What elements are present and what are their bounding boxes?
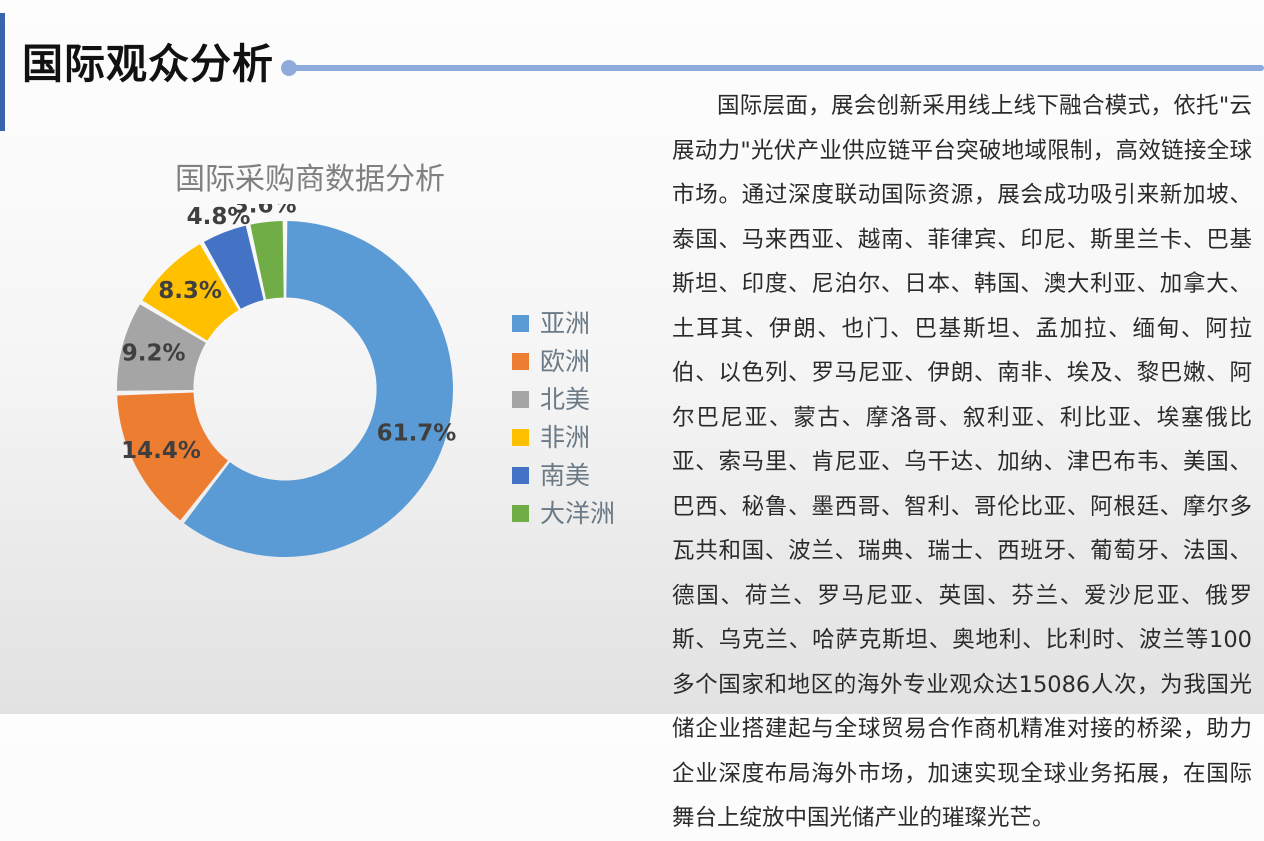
description-paragraph: 国际层面，展会创新采用线上线下融合模式，依托"云展动力"光伏产业供应链平台突破地… xyxy=(672,84,1252,841)
title-rule-line xyxy=(283,65,1264,71)
legend-item-label: 北美 xyxy=(540,387,590,412)
donut-slice-label: 9.2% xyxy=(122,341,186,367)
donut-chart: 61.7%14.4%9.2%8.3%4.8%3.6% xyxy=(100,204,470,574)
legend-item[interactable]: 非洲 xyxy=(512,418,652,456)
legend-swatch-icon xyxy=(512,467,529,484)
legend-swatch-icon xyxy=(512,315,529,332)
legend-swatch-icon xyxy=(512,391,529,408)
donut-slice-label: 8.3% xyxy=(158,278,222,304)
legend-item-label: 南美 xyxy=(540,463,590,488)
legend-item[interactable]: 北美 xyxy=(512,380,652,418)
legend-swatch-icon xyxy=(512,505,529,522)
donut-slice-label: 14.4% xyxy=(121,438,201,464)
donut-slice-group xyxy=(117,221,453,557)
legend-item[interactable]: 南美 xyxy=(512,456,652,494)
chart-legend: 亚洲欧洲北美非洲南美大洋洲 xyxy=(512,304,652,532)
legend-item[interactable]: 亚洲 xyxy=(512,304,652,342)
legend-item-label: 大洋洲 xyxy=(540,501,615,526)
legend-item-label: 亚洲 xyxy=(540,311,590,336)
legend-item[interactable]: 欧洲 xyxy=(512,342,652,380)
chart-panel: 国际采购商数据分析 61.7%14.4%9.2%8.3%4.8%3.6% 亚洲欧… xyxy=(0,132,660,714)
legend-item-label: 欧洲 xyxy=(540,349,590,374)
page-title: 国际观众分析 xyxy=(22,30,274,90)
legend-swatch-icon xyxy=(512,353,529,370)
donut-chart-svg: 61.7%14.4%9.2%8.3%4.8%3.6% xyxy=(100,204,470,574)
description-panel: 国际层面，展会创新采用线上线下融合模式，依托"云展动力"光伏产业供应链平台突破地… xyxy=(672,84,1252,704)
donut-slice-label: 3.6% xyxy=(233,204,297,219)
legend-swatch-icon xyxy=(512,429,529,446)
legend-item-label: 非洲 xyxy=(540,425,590,450)
chart-title: 国际采购商数据分析 xyxy=(0,154,620,198)
legend-item[interactable]: 大洋洲 xyxy=(512,494,652,532)
donut-slice-label: 61.7% xyxy=(377,420,457,446)
title-rule-dot xyxy=(281,60,297,76)
